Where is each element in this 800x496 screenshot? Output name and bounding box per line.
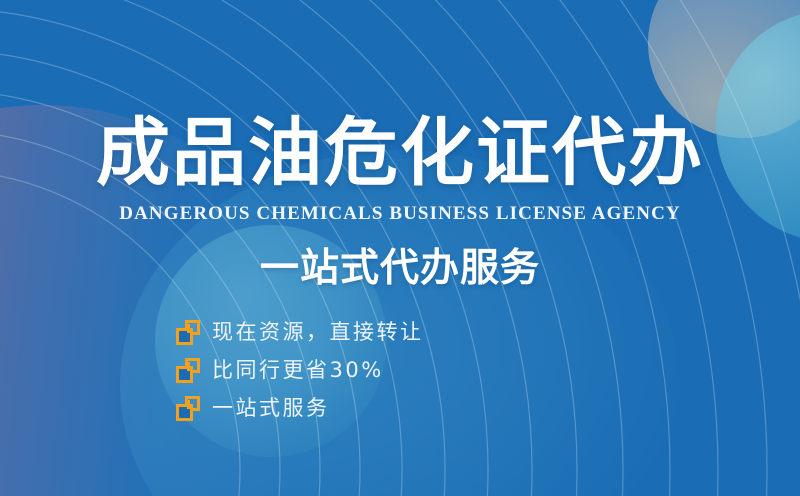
promo-banner: 成品油危化证代办 DANGEROUS CHEMICALS BUSINESS LI… xyxy=(0,0,800,496)
overlapping-squares-icon xyxy=(176,396,201,421)
secondary-title: 一站式代办服务 xyxy=(0,246,800,292)
overlapping-squares-icon xyxy=(176,320,201,345)
banner-content: 成品油危化证代办 DANGEROUS CHEMICALS BUSINESS LI… xyxy=(0,0,800,496)
list-item: 比同行更省30% xyxy=(176,354,424,387)
list-item-label: 现在资源，直接转让 xyxy=(212,320,424,345)
feature-list: 现在资源，直接转让 比同行更省30% 一站式服务 xyxy=(176,316,424,425)
list-item: 一站式服务 xyxy=(176,392,424,425)
list-item-label: 比同行更省30% xyxy=(212,358,384,383)
list-item-label: 一站式服务 xyxy=(212,396,330,421)
english-subtitle: DANGEROUS CHEMICALS BUSINESS LICENSE AGE… xyxy=(0,203,800,225)
page-title: 成品油危化证代办 xyxy=(0,111,800,195)
list-item: 现在资源，直接转让 xyxy=(176,316,424,349)
overlapping-squares-icon xyxy=(176,358,201,383)
